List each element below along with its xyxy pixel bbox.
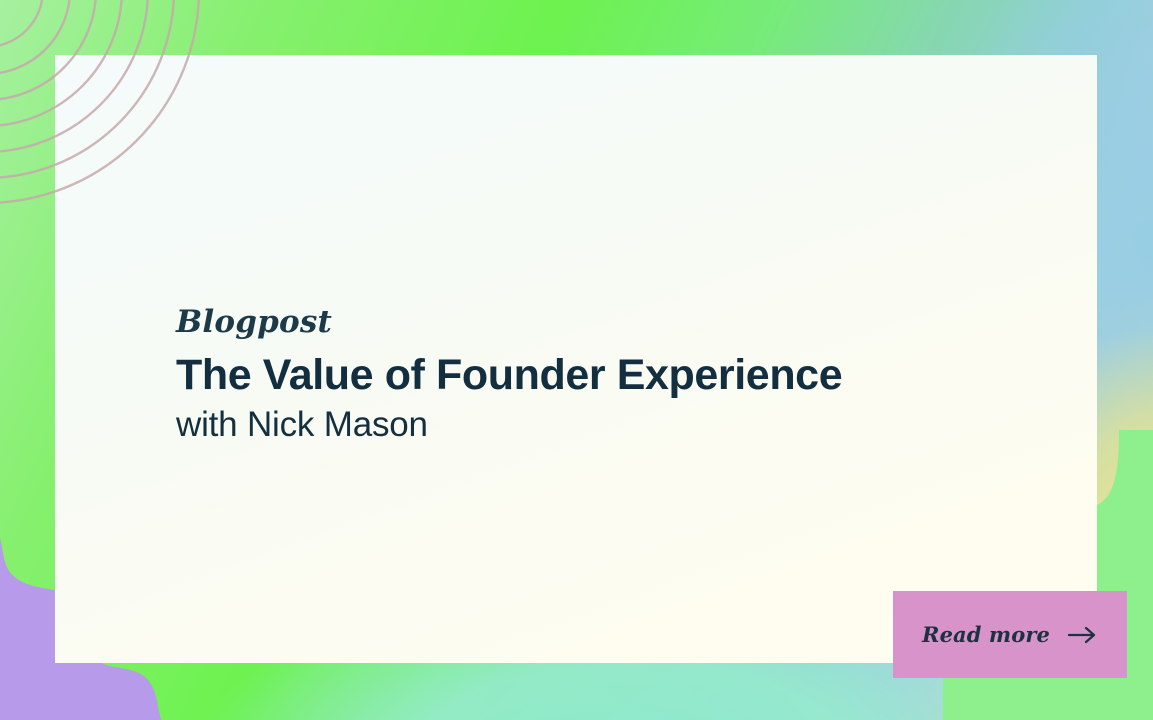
page-title: The Value of Founder Experience xyxy=(176,352,996,398)
content-card: Blogpost The Value of Founder Experience… xyxy=(55,55,1097,663)
byline: with Nick Mason xyxy=(176,406,996,445)
arrow-right-icon xyxy=(1068,626,1098,644)
headline-group: Blogpost The Value of Founder Experience… xyxy=(176,307,996,445)
read-more-label: Read more xyxy=(922,622,1050,647)
read-more-button[interactable]: Read more xyxy=(893,591,1127,678)
kicker-label: Blogpost xyxy=(176,307,996,338)
slide-canvas: Blogpost The Value of Founder Experience… xyxy=(0,0,1153,720)
